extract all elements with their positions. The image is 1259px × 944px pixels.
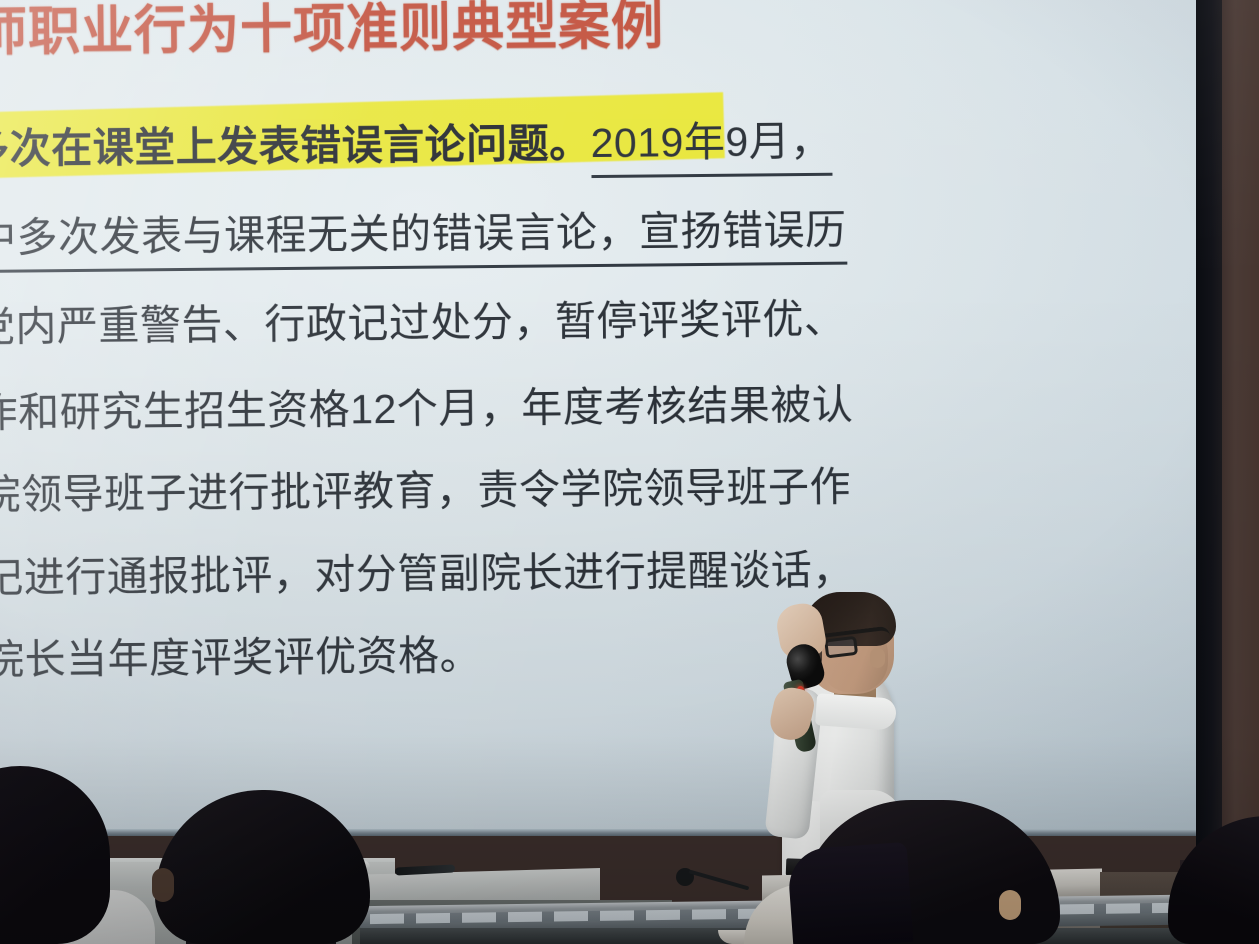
slide-title: 师职业行为十项准则典型案例: [0, 0, 664, 65]
slide-line-6-text: 记进行通报批评，对分管副院长进行提醒谈话，: [0, 547, 854, 601]
slide-line-1: 多次在课堂上发表错误言论问题。2019年9月，: [0, 107, 832, 175]
gooseneck-microphone: [676, 868, 746, 902]
screen-frame-edge: [1196, 0, 1222, 944]
slide-line-6: 记进行通报批评，对分管副院长进行提醒谈话，: [0, 536, 854, 604]
slide-line-3-text: 党内严重警告、行政记过处分，暂停评奖评优、: [0, 296, 846, 350]
slide-line-3: 党内严重警告、行政记过处分，暂停评奖评优、: [0, 285, 846, 353]
projection-screen: 师职业行为十项准则典型案例 多次在课堂上发表错误言论问题。2019年9月， 中多…: [0, 0, 1196, 836]
gooseneck-mic-stem: [689, 870, 750, 891]
audience-hair: [787, 842, 914, 944]
presenter-ear: [870, 648, 885, 668]
slide-content: 师职业行为十项准则典型案例 多次在课堂上发表错误言论问题。2019年9月， 中多…: [0, 0, 1196, 836]
slide-line-5-text: 院领导班子进行批评教育，责令学院领导班子作: [0, 464, 851, 518]
photo-scene: 师职业行为十项准则典型案例 多次在课堂上发表错误言论问题。2019年9月， 中多…: [0, 0, 1259, 944]
slide-line-1-highlighted: 多次在课堂上发表错误言论问题。: [0, 120, 591, 172]
slide-line-7: 院长当年度评奖评优资格。: [0, 621, 481, 686]
audience-ear: [999, 890, 1021, 920]
slide-line-2-text: 中多次发表与课程无关的错误言论，宣扬错误历: [0, 207, 847, 273]
slide-line-5: 院领导班子进行批评教育，责令学院领导班子作: [0, 453, 851, 521]
slide-line-1-text: 2019年9月，: [590, 118, 832, 178]
slide-line-4-text: 作和研究生招生资格12个月，年度考核结果被认: [0, 382, 854, 436]
presenter-collar: [815, 693, 897, 731]
slide-line-4: 作和研究生招生资格12个月，年度考核结果被认: [0, 371, 854, 439]
audience-ear: [152, 868, 174, 902]
slide-line-7-text: 院长当年度评奖评优资格。: [0, 632, 481, 683]
slide-line-2: 中多次发表与课程无关的错误言论，宣扬错误历: [0, 196, 847, 264]
